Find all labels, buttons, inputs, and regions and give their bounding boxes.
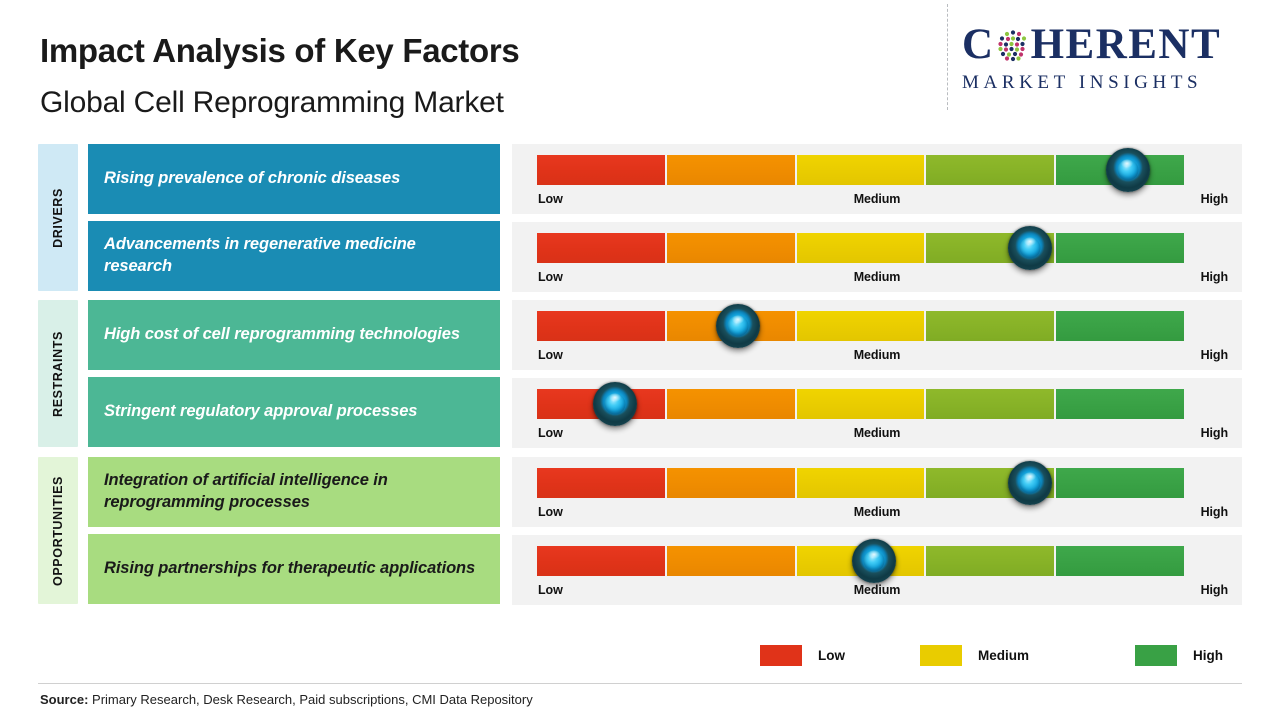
impact-gauge: LowMediumHigh — [512, 222, 1242, 292]
factor-label: Rising prevalence of chronic diseases — [104, 168, 400, 190]
category-band-drivers: DRIVERS — [38, 144, 78, 291]
gauge-segment-1 — [537, 155, 665, 185]
factor-box[interactable]: High cost of cell reprogramming technolo… — [88, 300, 500, 370]
factor-box[interactable]: Integration of artificial intelligence i… — [88, 457, 500, 527]
legend-label: High — [1193, 648, 1223, 663]
logo-tagline: MARKET INSIGHTS — [962, 72, 1262, 94]
gauge-segment-5 — [1056, 311, 1184, 341]
scale-label-medium: Medium — [512, 583, 1242, 597]
gauge-segment-1 — [537, 468, 665, 498]
legend-swatch — [920, 645, 962, 666]
impact-marker[interactable] — [593, 382, 637, 426]
gauge-segment-3 — [797, 155, 925, 185]
legend-swatch — [760, 645, 802, 666]
gauge-segment-5 — [1056, 546, 1184, 576]
category-label: OPPORTUNITIES — [51, 476, 65, 586]
scale-label-medium: Medium — [512, 505, 1242, 519]
category-band-restraints: RESTRAINTS — [38, 300, 78, 447]
logo-letter-c: C — [962, 21, 995, 68]
gauge-bar — [537, 546, 1186, 576]
factor-box[interactable]: Rising partnerships for therapeutic appl… — [88, 534, 500, 604]
scale-label-medium: Medium — [512, 270, 1242, 284]
gauge-segment-2 — [667, 546, 795, 576]
category-label: DRIVERS — [51, 188, 65, 248]
gauge-segment-4 — [926, 155, 1054, 185]
gauge-segment-3 — [797, 233, 925, 263]
gauge-segment-4 — [926, 389, 1054, 419]
scale-label-medium: Medium — [512, 348, 1242, 362]
legend-swatch — [1135, 645, 1177, 666]
gauge-segment-1 — [537, 546, 665, 576]
factor-label: Stringent regulatory approval processes — [104, 401, 417, 423]
page-subtitle: Global Cell Reprogramming Market — [40, 86, 504, 120]
category-band-opportunities: OPPORTUNITIES — [38, 457, 78, 604]
impact-marker[interactable] — [1106, 148, 1150, 192]
factor-box[interactable]: Stringent regulatory approval processes — [88, 377, 500, 447]
gauge-segment-5 — [1056, 468, 1184, 498]
legend: LowMediumHigh — [760, 645, 1220, 669]
legend-item: Low — [760, 645, 845, 666]
header: Impact Analysis of Key Factors Global Ce… — [0, 0, 1280, 132]
gauge-segment-1 — [537, 311, 665, 341]
source-note: Source: Primary Research, Desk Research,… — [40, 692, 533, 707]
gauge-segment-3 — [797, 389, 925, 419]
gauge-segment-3 — [797, 311, 925, 341]
page-title: Impact Analysis of Key Factors — [40, 32, 519, 70]
impact-gauge: LowMediumHigh — [512, 457, 1242, 527]
gauge-segment-2 — [667, 468, 795, 498]
legend-item: High — [1135, 645, 1223, 666]
factor-box[interactable]: Advancements in regenerative medicine re… — [88, 221, 500, 291]
scale-label-medium: Medium — [512, 192, 1242, 206]
impact-marker[interactable] — [716, 304, 760, 348]
impact-marker[interactable] — [1008, 461, 1052, 505]
scale-label-medium: Medium — [512, 426, 1242, 440]
scale-label-high: High — [1201, 192, 1228, 206]
scale-label-high: High — [1201, 426, 1228, 440]
gauge-bar — [537, 233, 1186, 263]
infographic-root: Impact Analysis of Key Factors Global Ce… — [0, 0, 1280, 720]
logo-letters-herent: HERENT — [1031, 21, 1222, 68]
logo-divider — [947, 4, 948, 110]
footer-divider — [38, 683, 1242, 684]
scale-label-high: High — [1201, 583, 1228, 597]
legend-item: Medium — [920, 645, 1029, 666]
factor-label: Advancements in regenerative medicine re… — [104, 234, 484, 278]
scale-label-high: High — [1201, 270, 1228, 284]
category-label: RESTRAINTS — [51, 331, 65, 417]
gauge-segment-2 — [667, 389, 795, 419]
impact-gauge: LowMediumHigh — [512, 535, 1242, 605]
gauge-segment-4 — [926, 546, 1054, 576]
factor-label: Rising partnerships for therapeutic appl… — [104, 558, 475, 580]
impact-gauge: LowMediumHigh — [512, 144, 1242, 214]
gauge-bar — [537, 468, 1186, 498]
logo-wordmark: C — [962, 22, 1262, 68]
gauge-segment-1 — [537, 233, 665, 263]
gauge-segment-5 — [1056, 389, 1184, 419]
impact-marker[interactable] — [1008, 226, 1052, 270]
legend-label: Low — [818, 648, 845, 663]
scale-label-high: High — [1201, 348, 1228, 362]
impact-marker[interactable] — [852, 539, 896, 583]
factor-label: High cost of cell reprogramming technolo… — [104, 324, 460, 346]
gauge-segment-5 — [1056, 233, 1184, 263]
gauge-segment-3 — [797, 468, 925, 498]
gauge-bar — [537, 389, 1186, 419]
legend-label: Medium — [978, 648, 1029, 663]
impact-gauge: LowMediumHigh — [512, 378, 1242, 448]
scale-label-high: High — [1201, 505, 1228, 519]
globe-icon — [996, 27, 1030, 61]
gauge-bar — [537, 311, 1186, 341]
gauge-segment-2 — [667, 155, 795, 185]
gauge-segment-2 — [667, 233, 795, 263]
gauge-segment-4 — [926, 311, 1054, 341]
source-label: Source: — [40, 692, 88, 707]
gauge-bar — [537, 155, 1186, 185]
factor-label: Integration of artificial intelligence i… — [104, 470, 484, 514]
factor-box[interactable]: Rising prevalence of chronic diseases — [88, 144, 500, 214]
impact-gauge: LowMediumHigh — [512, 300, 1242, 370]
source-text: Primary Research, Desk Research, Paid su… — [88, 692, 532, 707]
company-logo: C — [962, 22, 1262, 106]
